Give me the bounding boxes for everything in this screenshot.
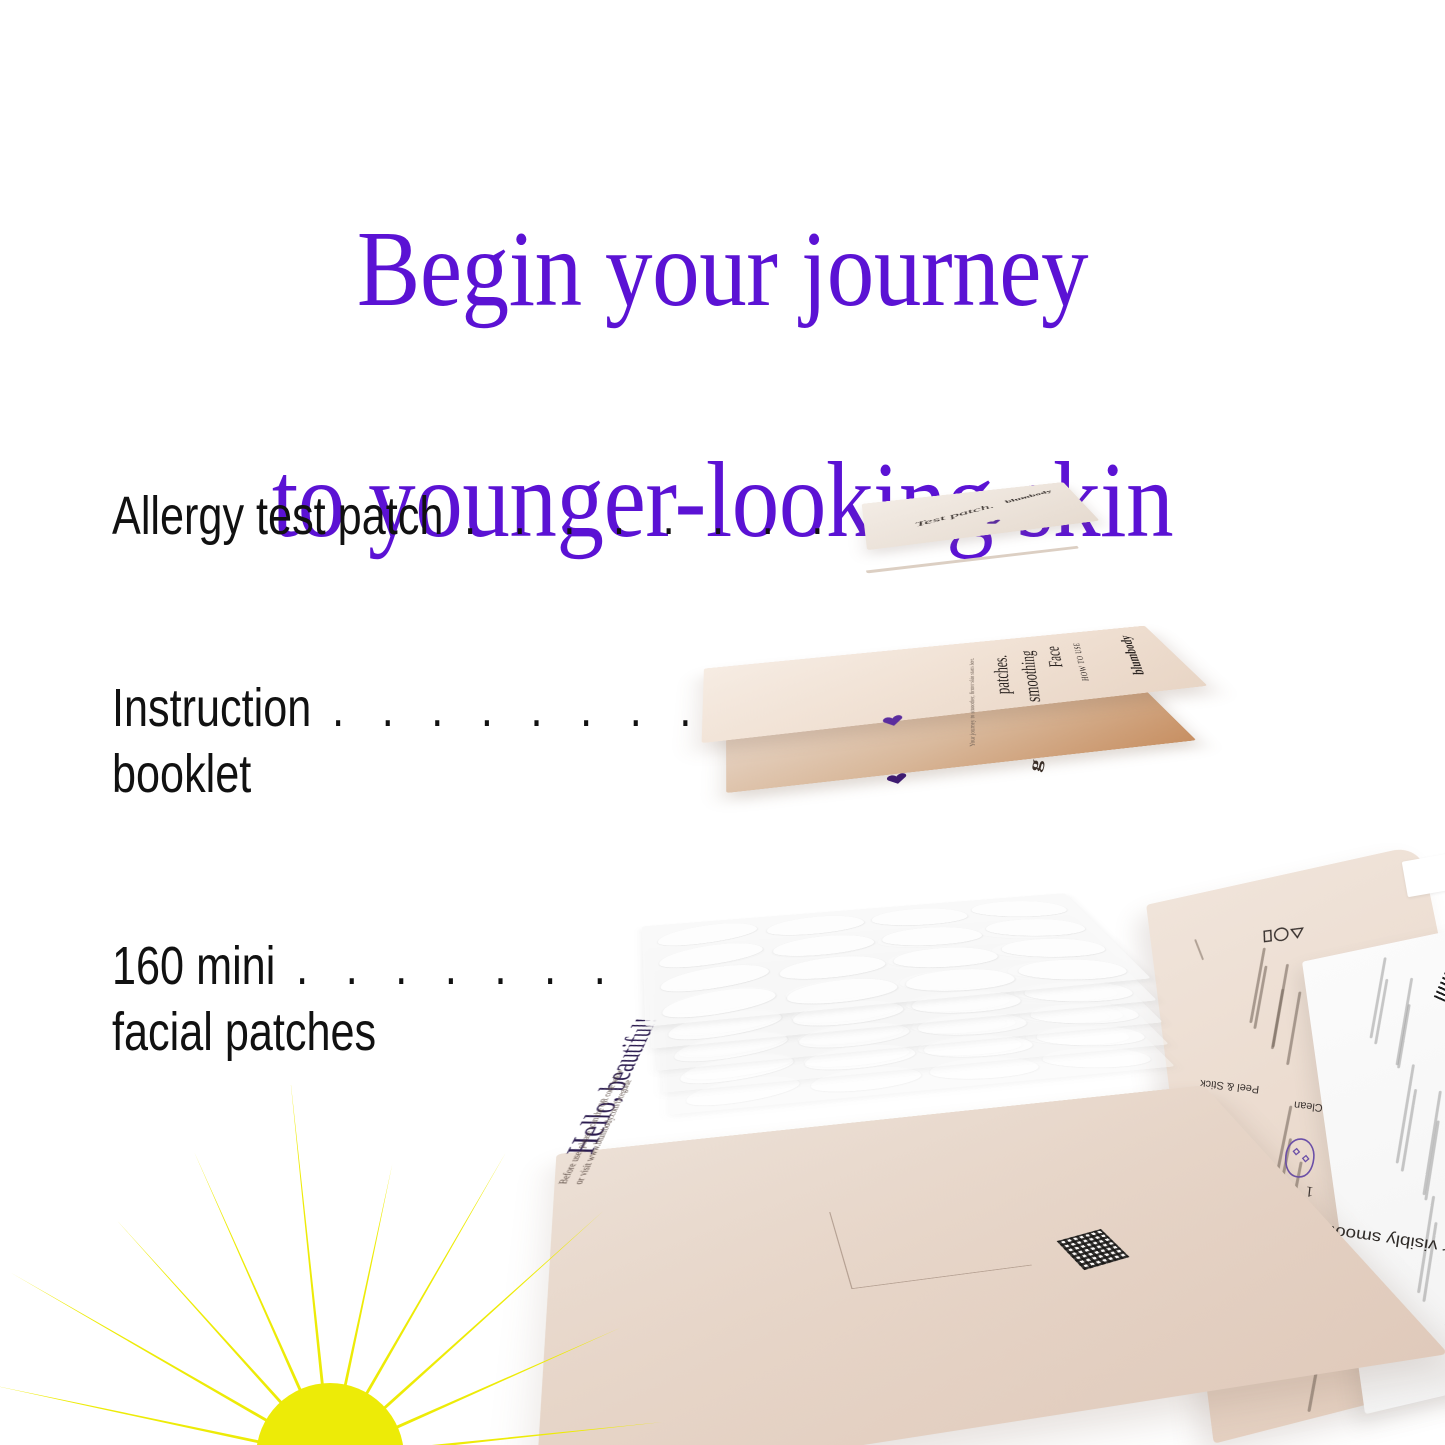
callout-label-text: Instruction	[112, 678, 311, 738]
booklet-title-line-3: patches.	[990, 655, 1016, 694]
test-patch-brand-wordmark: blumbody	[1004, 489, 1054, 504]
recycle-icon	[1263, 916, 1307, 945]
open-box-photo: blumbody	[520, 800, 1445, 1445]
facial-patch	[901, 967, 1018, 994]
facial-patch	[878, 925, 985, 947]
facial-patch	[970, 901, 1070, 917]
booklet-brand-wordmark: blumbody	[1116, 636, 1149, 675]
leader-dots: . . . . . . . .	[464, 486, 836, 546]
facial-patch	[889, 945, 1001, 970]
callout-allergy-test-patch: Allergy test patch. . . . . . . .	[112, 484, 836, 550]
facial-patch	[868, 907, 970, 928]
test-patch-card-face: blumbody Test patch.	[862, 482, 1100, 550]
facial-patch	[769, 932, 879, 960]
heart-icon	[985, 519, 1003, 526]
callout-label-text: Allergy test patch	[112, 486, 443, 546]
test-patch-title: Test patch.	[913, 503, 996, 528]
callout-label-text: 160 mini	[112, 936, 275, 996]
callout-instruction-booklet: Instruction. . . . . . . . booklet	[112, 676, 704, 808]
callout-label-text-line-2: booklet	[112, 742, 704, 808]
facial-patch	[984, 919, 1089, 936]
booklet-eyebrow: HOW TO USE	[1071, 642, 1092, 680]
leader-dots: . . . . . . . .	[332, 678, 704, 738]
booklet-title-line-2: smoothing	[1016, 650, 1046, 702]
facial-patch	[782, 975, 902, 1008]
booklet-subtitle: Your journey to smoother, firmer skin st…	[968, 658, 976, 747]
product-infographic: Begin your journey to younger-looking sk…	[0, 0, 1445, 1445]
booklet-inner-glyph: g	[1025, 757, 1046, 773]
booklet-title-line-1: Face	[1042, 646, 1068, 667]
test-patch-card-photo: blumbody Test patch.	[866, 466, 1088, 558]
facial-patch	[999, 938, 1109, 957]
qr-code-icon	[1057, 1229, 1130, 1270]
facial-patch	[1015, 959, 1130, 979]
